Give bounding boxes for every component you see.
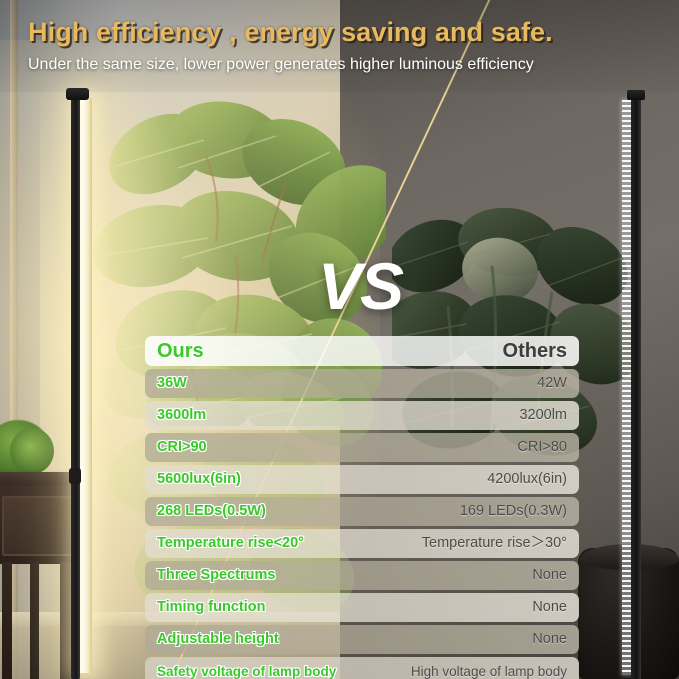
cell-others: None: [532, 599, 567, 616]
cell-others: High voltage of lamp body AC power suppl…: [392, 664, 567, 679]
cell-others: None: [532, 631, 567, 648]
cell-ours: 268 LEDs(0.5W): [157, 503, 266, 519]
cell-ours: Temperature rise<20°: [157, 535, 304, 551]
left-lamp-pole: [71, 90, 80, 679]
side-table-leg: [2, 562, 12, 679]
column-header-ours: Ours: [157, 340, 204, 362]
table-row: Timing functionNone: [145, 593, 579, 622]
cell-ours: Timing function: [157, 599, 265, 615]
table-row: 36W42W: [145, 369, 579, 398]
table-row: 3600lm3200lm: [145, 401, 579, 430]
table-row: 5600lux(6in)4200lux(6in): [145, 465, 579, 494]
right-lamp-pole: [631, 92, 641, 679]
left-lamp-knob: [69, 468, 81, 484]
cell-ours: Three Spectrums: [157, 567, 275, 583]
table-header-row: Ours Others: [145, 336, 579, 366]
cell-ours: 3600lm: [157, 407, 206, 423]
cell-others: 42W: [537, 375, 567, 392]
page-subtitle: Under the same size, lower power generat…: [28, 56, 534, 74]
cell-ours: 5600lux(6in): [157, 471, 241, 487]
table-row: Safety voltage of lamp body DC power sup…: [145, 657, 579, 679]
cell-ours: Safety voltage of lamp body DC power sup…: [157, 664, 336, 679]
cell-ours: CRI>90: [157, 439, 207, 455]
left-lamp-led-strip: [79, 98, 92, 673]
table-row: Three SpectrumsNone: [145, 561, 579, 590]
cell-others: 3200lm: [519, 407, 567, 424]
cell-others: 4200lux(6in): [487, 471, 567, 488]
table-row: 268 LEDs(0.5W)169 LEDs(0.3W): [145, 497, 579, 526]
vs-badge: VS: [318, 248, 402, 324]
page-title: High efficiency , energy saving and safe…: [28, 17, 553, 48]
topiary-plant-highlight: [10, 428, 54, 474]
side-table-leg: [30, 562, 39, 679]
cell-ours: Adjustable height: [157, 631, 279, 647]
table-row: Temperature rise<20°Temperature rise＞30°: [145, 529, 579, 558]
promo-comparison-image: High efficiency , energy saving and safe…: [0, 0, 679, 679]
comparison-table: Ours Others 36W42W3600lm3200lmCRI>90CRI>…: [145, 336, 579, 679]
column-header-others: Others: [503, 340, 567, 363]
cell-others: None: [532, 567, 567, 584]
side-table-drawer: [2, 496, 76, 556]
side-table-leg: [60, 562, 71, 679]
table-row: Adjustable heightNone: [145, 625, 579, 654]
cell-others: Temperature rise＞30°: [422, 535, 567, 552]
cell-others: 169 LEDs(0.3W): [460, 503, 567, 520]
right-lamp-led-strip: [622, 100, 631, 675]
cell-ours: 36W: [157, 375, 187, 391]
cell-others: CRI>80: [517, 439, 567, 456]
table-row: CRI>90CRI>80: [145, 433, 579, 462]
